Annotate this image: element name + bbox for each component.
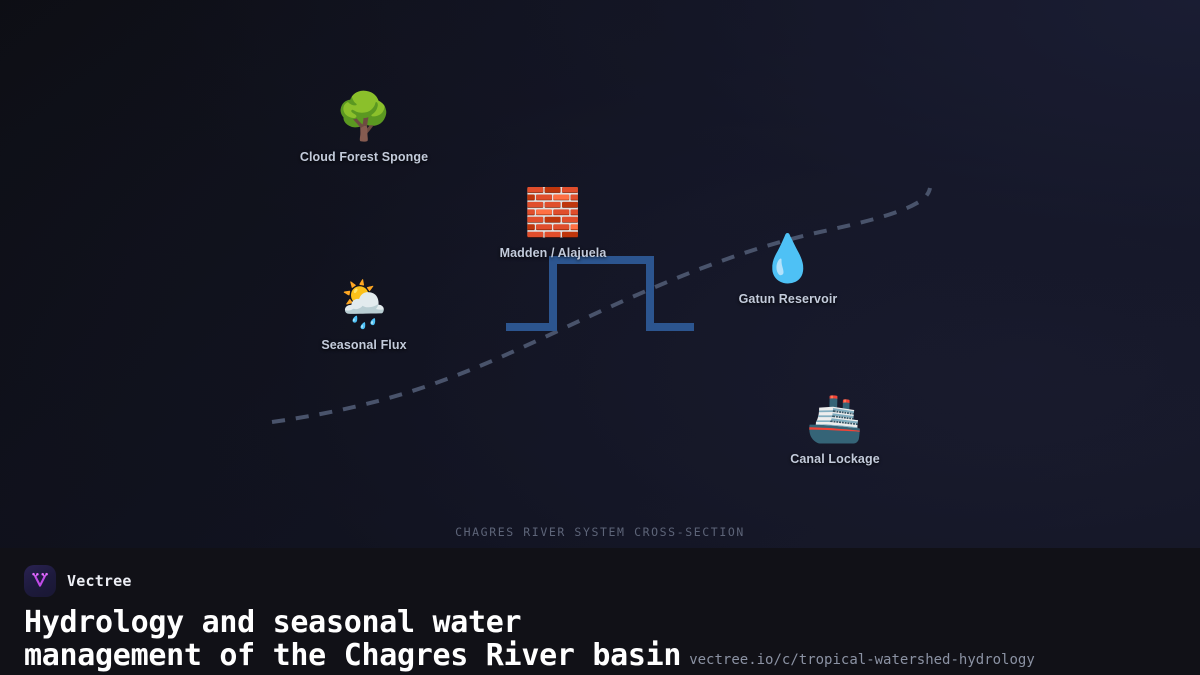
- diagram-node-canal-lockage[interactable]: 🚢 Canal Lockage: [740, 390, 930, 466]
- tree-icon: 🌳: [335, 88, 392, 144]
- diagram-node-label: Madden / Alajuela: [500, 246, 607, 260]
- vectree-tree-glyph: [30, 571, 50, 591]
- diagram-node-gatun-reservoir[interactable]: 💧 Gatun Reservoir: [693, 230, 883, 306]
- vectree-logo-icon: [24, 565, 56, 597]
- diagram-node-label: Cloud Forest Sponge: [300, 150, 428, 164]
- diagram-area: 🌳 Cloud Forest Sponge 🧱 Madden / Alajuel…: [0, 0, 1200, 512]
- source-url[interactable]: vectree.io/c/tropical-watershed-hydrolog…: [689, 652, 1035, 672]
- brand-name: Vectree: [67, 572, 132, 590]
- brand-block: Vectree: [24, 565, 1176, 597]
- droplet-icon: 💧: [759, 230, 816, 286]
- page-title: Hydrology and seasonal water management …: [24, 606, 681, 672]
- ship-icon: 🚢: [806, 390, 863, 446]
- sun-behind-rain-cloud-icon: 🌦️: [335, 276, 392, 332]
- brick-wall-icon: 🧱: [524, 184, 581, 240]
- slide-canvas: 🌳 Cloud Forest Sponge 🧱 Madden / Alajuel…: [0, 0, 1200, 675]
- diagram-node-cloud-forest-sponge[interactable]: 🌳 Cloud Forest Sponge: [269, 88, 459, 164]
- dam-step-profile-path: [506, 260, 694, 327]
- diagram-caption: CHAGRES RIVER SYSTEM CROSS-SECTION: [0, 525, 1200, 539]
- headline-row: Hydrology and seasonal water management …: [24, 606, 1176, 672]
- footer-bar: Vectree Hydrology and seasonal water man…: [0, 548, 1200, 675]
- diagram-node-seasonal-flux[interactable]: 🌦️ Seasonal Flux: [269, 276, 459, 352]
- diagram-node-label: Canal Lockage: [790, 452, 880, 466]
- diagram-node-madden-alajuela[interactable]: 🧱 Madden / Alajuela: [458, 184, 648, 260]
- diagram-node-label: Seasonal Flux: [321, 338, 406, 352]
- diagram-node-label: Gatun Reservoir: [739, 292, 838, 306]
